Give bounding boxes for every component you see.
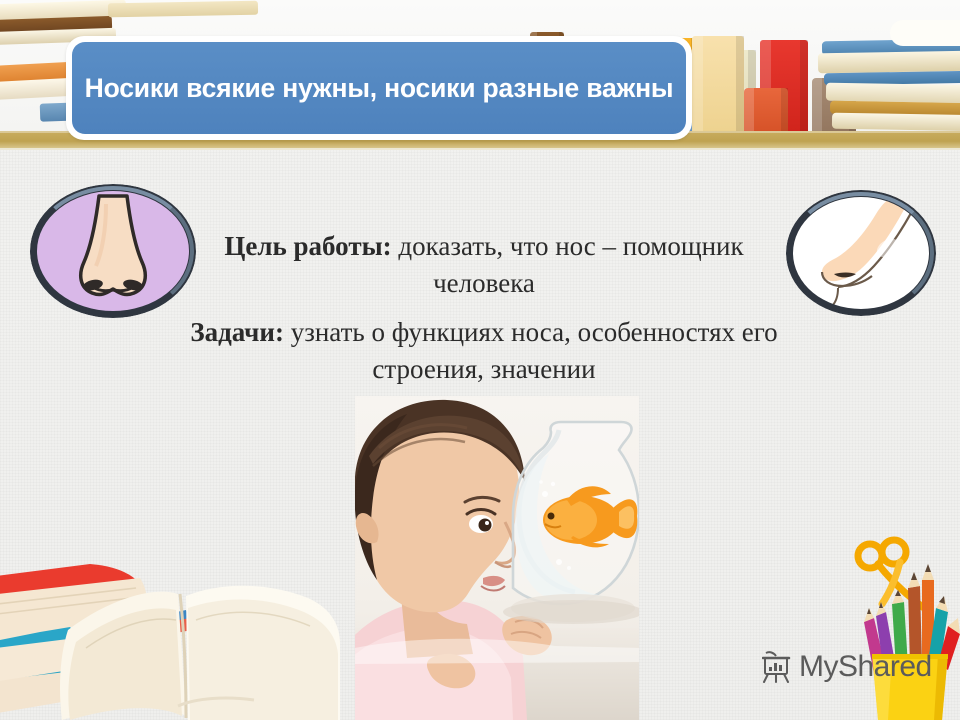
nose-profile-badge [786, 190, 936, 316]
tasks-label: Задачи: [190, 317, 284, 347]
slide-canvas: Носики всякие нужны, носики разные важны [0, 0, 960, 720]
pencil-cup-group [852, 530, 960, 720]
tasks-paragraph: Задачи: узнать о функциях носа, особенно… [186, 314, 782, 388]
slide-body: Цель работы: доказать, что нос – помощни… [186, 228, 782, 388]
nose-front-badge [30, 184, 196, 318]
shelf-underside [0, 148, 960, 150]
girl-with-goldfish-photo [355, 396, 639, 720]
pencils-and-scissors-icon [852, 530, 960, 720]
badge-ring-sheen [32, 186, 194, 316]
bottom-left-books [0, 520, 340, 720]
stacked-book-pages-low [832, 113, 960, 132]
badge-ring-sheen [788, 192, 934, 314]
presentation-easel-icon [762, 651, 792, 683]
slide-title: Носики всякие нужны, носики разные важны [85, 73, 674, 104]
books-illustration [0, 520, 340, 720]
slide-title-bar: Носики всякие нужны, носики разные важны [72, 42, 686, 134]
stacked-book-white-page [890, 20, 960, 46]
goal-text: доказать, что нос – помощник человека [392, 231, 744, 298]
stacked-book-pages-top [818, 51, 960, 74]
goal-label: Цель работы: [224, 231, 391, 261]
flat-book-cream [108, 1, 258, 18]
tasks-text: узнать о функциях носа, особенностях его… [284, 317, 778, 384]
photo-illustration [355, 396, 639, 720]
myshared-watermark: MyShared [762, 650, 932, 684]
goal-paragraph: Цель работы: доказать, что нос – помощни… [186, 228, 782, 302]
watermark-label: MyShared [799, 650, 932, 684]
title-frame: Носики всякие нужны, носики разные важны [66, 36, 692, 140]
